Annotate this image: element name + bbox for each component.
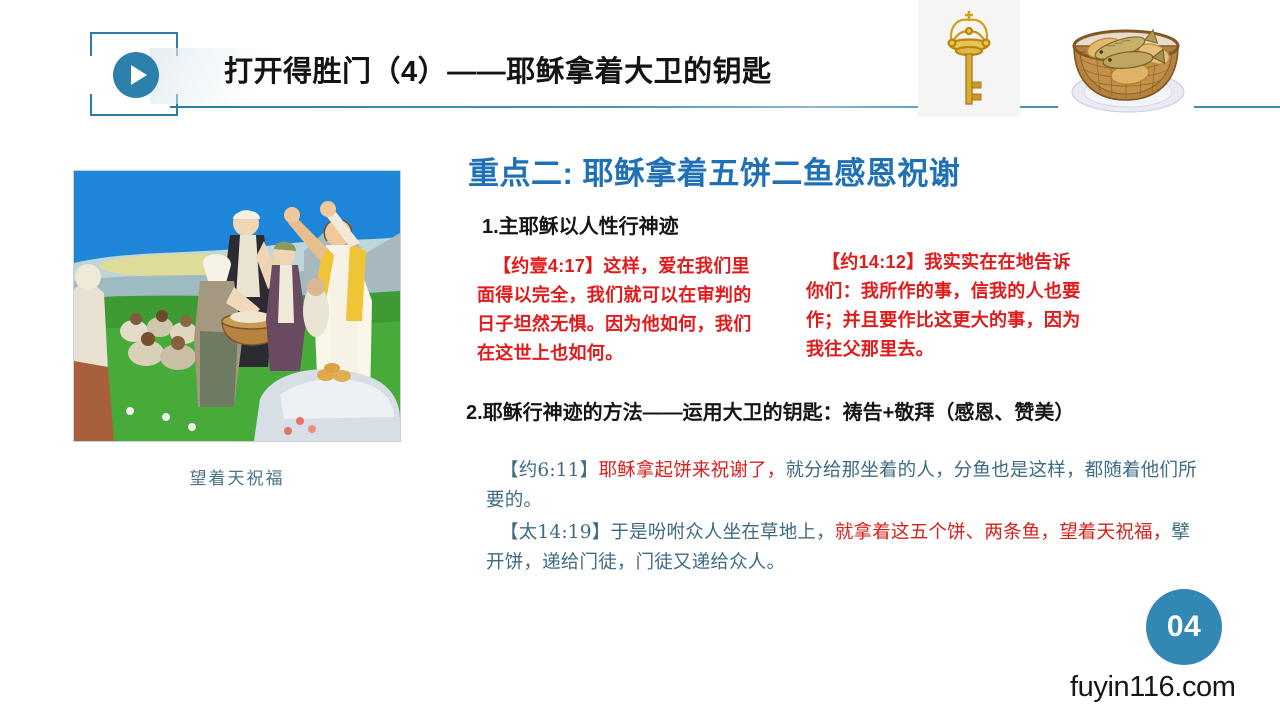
picture-caption: 望着天祝福 (73, 464, 401, 489)
scripture-block: 【约6:11】耶稣拿起饼来祝谢了，就分给那坐着的人，分鱼也是这样，都随着他们所要… (486, 456, 1198, 578)
scripture-line: 【约6:11】耶稣拿起饼来祝谢了，就分给那坐着的人，分鱼也是这样，都随着他们所要… (486, 456, 1198, 516)
verse-1john-4-17: 【约壹4:17】这样，爱在我们里面得以完全，我们就可以在审判的日子坦然无惧。因为… (477, 252, 755, 368)
point-1-heading: 1.主耶稣以人性行神迹 (482, 210, 679, 239)
bread-and-fish-basket-image (1058, 0, 1194, 117)
jesus-feeding-multitude-image (73, 170, 401, 442)
site-watermark: fuyin116.com (1070, 671, 1236, 704)
scripture-segment: 于是吩咐众人坐在草地上， (610, 522, 834, 543)
slide-root: 打开得胜门（4）——耶稣拿着大卫的钥匙 (0, 0, 1280, 720)
play-button-icon[interactable] (113, 52, 159, 98)
scripture-line: 【太14:19】于是吩咐众人坐在草地上，就拿着这五个饼、两条鱼，望着天祝福，擘开… (486, 518, 1198, 578)
section-heading: 重点二: 耶稣拿着五饼二鱼感恩祝谢 (468, 148, 960, 193)
verse-john-14-12: 【约14:12】我实实在在地告诉你们：我所作的事，信我的人也要作；并且要作比这更… (806, 248, 1084, 364)
scripture-segment: 耶稣拿起饼来祝谢了， (598, 460, 785, 481)
page-number-badge: 04 (1146, 589, 1222, 665)
crown-key-image (918, 0, 1020, 117)
slide-title: 打开得胜门（4）——耶稣拿着大卫的钥匙 (224, 48, 772, 90)
scripture-reference: 【约6:11】 (500, 460, 598, 481)
scripture-segment: 就拿着这五个饼、两条鱼，望着天祝福， (835, 522, 1172, 543)
play-triangle-icon (131, 65, 147, 85)
scripture-reference: 【太14:19】 (500, 522, 610, 543)
point-2-heading: 2.耶稣行神迹的方法——运用大卫的钥匙：祷告+敬拜（感恩、赞美） (466, 396, 1074, 425)
